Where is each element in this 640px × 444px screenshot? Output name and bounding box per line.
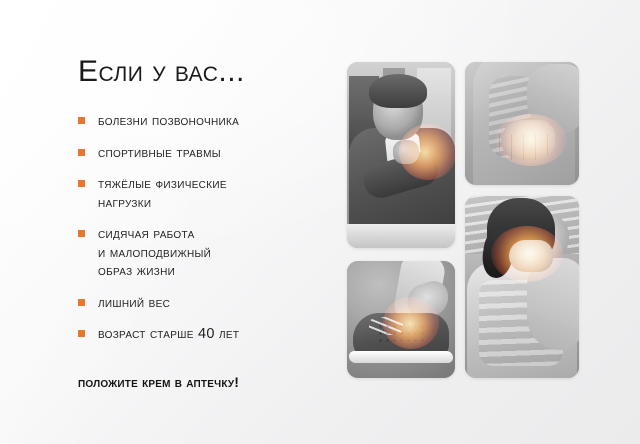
list-item: Лишний вес <box>78 294 340 313</box>
bullet-square-icon <box>78 117 85 124</box>
list-item-label: Спортивные травмы <box>98 144 340 163</box>
bullet-square-icon <box>78 180 85 187</box>
slide-canvas: Если у вас... Болезни позвоночника Спорт… <box>0 0 640 444</box>
symptom-list: Болезни позвоночника Спортивные травмы Т… <box>78 112 340 357</box>
bullet-square-icon <box>78 330 85 337</box>
list-item: Сидячая работа и малоподвижный образ жиз… <box>78 225 340 281</box>
photo-lower-back-pain <box>465 62 579 185</box>
photo-woman-neck-pain <box>465 196 579 378</box>
photo-scene <box>465 196 579 378</box>
call-to-action-text: Положите крем в аптечку! <box>78 374 239 390</box>
list-item-label: Лишний вес <box>98 294 340 313</box>
list-item: Спортивные травмы <box>78 144 340 163</box>
photo-ankle-foot-pain <box>347 261 455 378</box>
list-item-label: Тяжёлые физические нагрузки <box>98 175 340 212</box>
photo-scene <box>465 62 579 185</box>
list-item: Возраст старше 40 лет <box>78 325 340 344</box>
photo-scene <box>347 62 455 248</box>
photo-scene <box>347 261 455 378</box>
list-item: Болезни позвоночника <box>78 112 340 131</box>
photo-man-shoulder-pain <box>347 62 455 248</box>
text-column: Если у вас... Болезни позвоночника Спорт… <box>0 0 340 444</box>
bullet-square-icon <box>78 230 85 237</box>
bullet-square-icon <box>78 299 85 306</box>
list-item-label: Болезни позвоночника <box>98 112 340 131</box>
list-item-label: Возраст старше 40 лет <box>98 325 340 344</box>
list-item: Тяжёлые физические нагрузки <box>78 175 340 212</box>
bullet-square-icon <box>78 149 85 156</box>
page-title: Если у вас... <box>78 55 245 89</box>
list-item-label: Сидячая работа и малоподвижный образ жиз… <box>98 225 340 281</box>
photo-collage <box>347 62 579 378</box>
